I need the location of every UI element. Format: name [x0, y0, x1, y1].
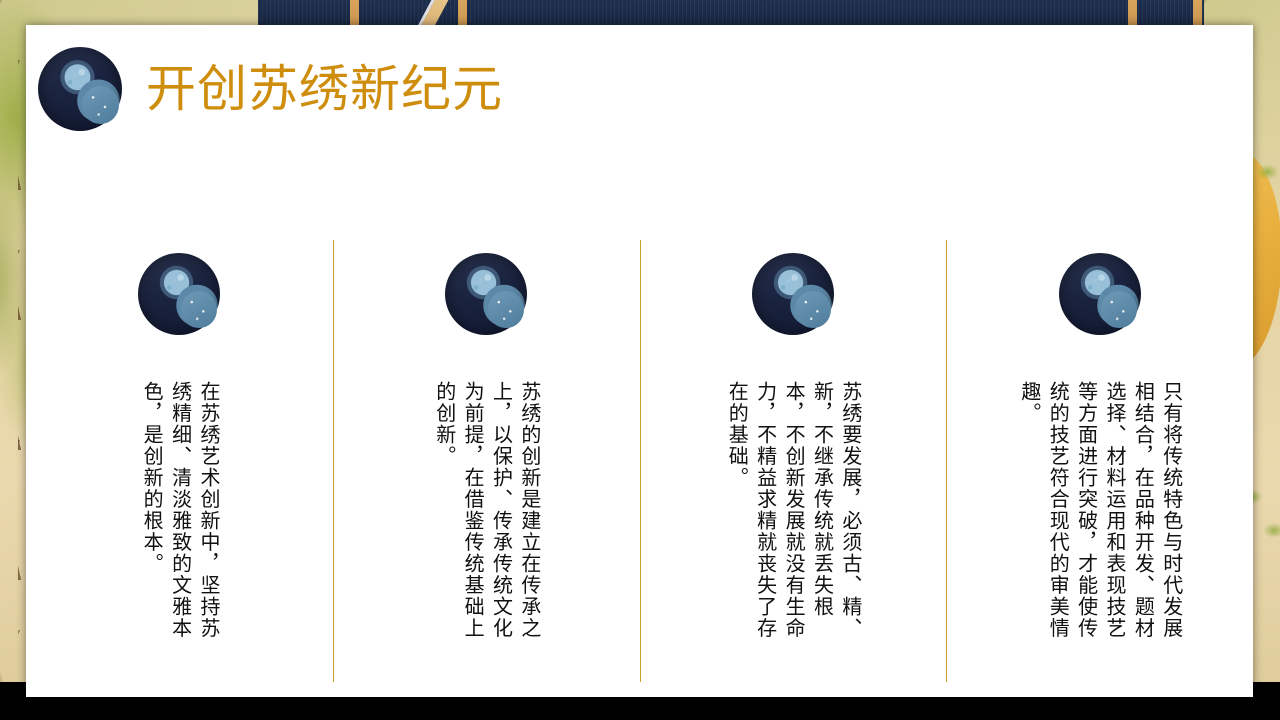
page-title: 开创苏绣新纪元	[146, 64, 503, 114]
embroidery-fan-logo-icon	[38, 47, 122, 131]
content-column-1[interactable]: 在苏绣艺术创新中，坚持苏绣精细、清淡雅致的文雅本色，是创新的根本。	[26, 240, 333, 685]
content-column-3[interactable]: 苏绣要发展，必须古、精、新，不继承传统就丢失根本，不创新发展就没有生命力，不精益…	[640, 240, 947, 685]
embroidery-fan-icon	[138, 253, 220, 335]
embroidery-fan-icon	[752, 253, 834, 335]
column-text: 在苏绣艺术创新中，坚持苏绣精细、清淡雅致的文雅本色，是创新的根本。	[137, 381, 222, 643]
column-text: 只有将传统特色与时代发展相结合，在品种开发、题材选择、材料运用和表现技艺等方面进…	[1014, 381, 1184, 643]
content-column-4[interactable]: 只有将传统特色与时代发展相结合，在品种开发、题材选择、材料运用和表现技艺等方面进…	[946, 240, 1253, 685]
content-columns: 在苏绣艺术创新中，坚持苏绣精细、清淡雅致的文雅本色，是创新的根本。 苏绣的创新是…	[26, 240, 1253, 685]
content-column-2[interactable]: 苏绣的创新是建立在传承之上，以保护、传承传统文化为前提，在借鉴传统基础上的创新。	[333, 240, 640, 685]
column-text: 苏绣要发展，必须古、精、新，不继承传统就丢失根本，不创新发展就没有生命力，不精益…	[722, 381, 864, 643]
embroidery-fan-icon	[1059, 253, 1141, 335]
slide-content-card: 开创苏绣新纪元 在苏绣艺术创新中，坚持苏绣精细、清淡雅致的文雅本色，是创新的根本…	[26, 25, 1253, 697]
embroidery-fan-icon	[445, 253, 527, 335]
column-text: 苏绣的创新是建立在传承之上，以保护、传承传统文化为前提，在借鉴传统基础上的创新。	[429, 381, 543, 643]
slide-header: 开创苏绣新纪元	[38, 47, 503, 131]
